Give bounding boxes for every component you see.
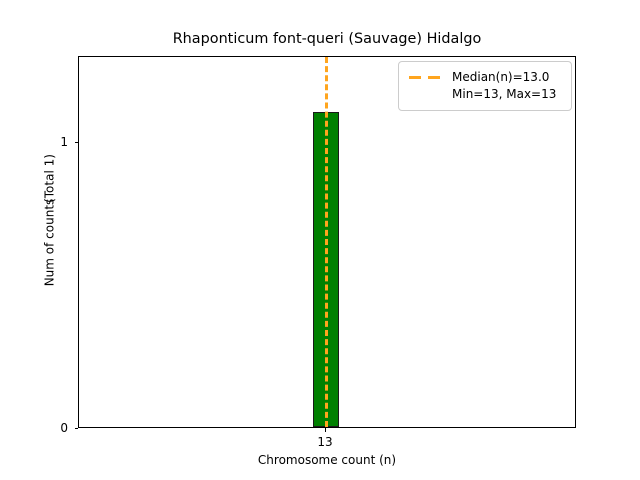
figure-canvas: Rhaponticum font-queri (Sauvage) Hidalgo…: [0, 0, 640, 480]
y-tick-label-1: 1: [60, 136, 68, 148]
median-line: [325, 57, 328, 427]
legend-entry-median: Median(n)=13.0 Min=13, Max=13: [408, 69, 562, 103]
dashed-line-icon: [408, 69, 444, 85]
x-axis-label: Chromosome count (n): [78, 452, 576, 468]
plot-axes: [78, 56, 576, 428]
y-tick-mark-0: [75, 428, 79, 429]
plot-area: [79, 57, 575, 427]
legend-median-label: Median(n)=13.0: [452, 69, 556, 86]
y-tick-label-0: 0: [60, 422, 68, 434]
chart-title: Rhaponticum font-queri (Sauvage) Hidalgo: [78, 30, 576, 48]
x-tick-mark-13: [325, 428, 326, 432]
y-axis-label-total: (Total 1): [44, 109, 57, 249]
x-tick-label-13: 13: [317, 435, 332, 449]
legend-entry-text: Median(n)=13.0 Min=13, Max=13: [452, 69, 556, 103]
chart-legend[interactable]: Median(n)=13.0 Min=13, Max=13: [398, 61, 572, 111]
legend-minmax-label: Min=13, Max=13: [452, 86, 556, 103]
